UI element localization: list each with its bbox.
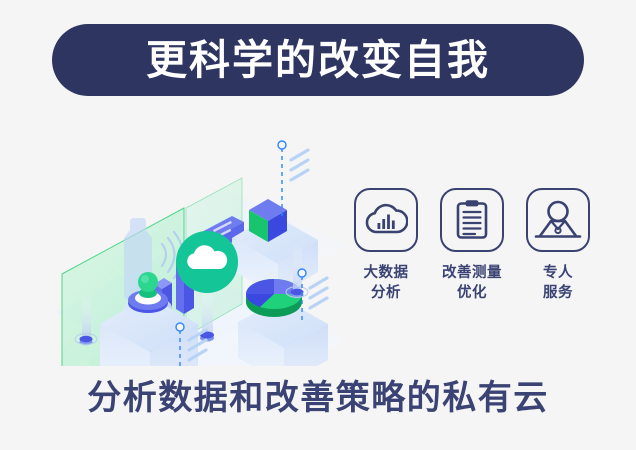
hero-illustration bbox=[46, 126, 346, 366]
feature-label-line-1: 改善测量 bbox=[442, 264, 502, 284]
hatch-marks-top bbox=[291, 150, 308, 180]
feature-label-line-2: 优化 bbox=[442, 284, 502, 304]
feature-item-dedicated-service[interactable]: 专人 服务 bbox=[520, 188, 596, 303]
feature-list: 大数据 分析 改善测量 bbox=[348, 188, 596, 328]
service-person-icon bbox=[526, 188, 590, 252]
clipboard-icon bbox=[440, 188, 504, 252]
feature-item-big-data-analysis[interactable]: 大数据 分析 bbox=[348, 188, 424, 303]
page-title: 更科学的改变自我 bbox=[146, 40, 490, 81]
feature-label-line-1: 大数据 bbox=[364, 264, 409, 284]
feature-label-dedicated-service: 专人 服务 bbox=[543, 264, 573, 303]
feature-label-line-2: 服务 bbox=[543, 284, 573, 304]
feature-label-line-2: 分析 bbox=[364, 284, 409, 304]
footer-tagline: 分析数据和改善策略的私有云 bbox=[0, 378, 636, 419]
feature-label-line-1: 专人 bbox=[543, 264, 573, 284]
cloud-bar-chart-icon bbox=[354, 188, 418, 252]
hatch-marks-right bbox=[310, 278, 327, 308]
feature-label-measurement-optimization: 改善测量 优化 bbox=[442, 264, 502, 303]
title-pill: 更科学的改变自我 bbox=[52, 24, 584, 96]
poster-root: 更科学的改变自我 bbox=[0, 0, 636, 450]
feature-label-big-data-analysis: 大数据 分析 bbox=[364, 264, 409, 303]
feature-item-measurement-optimization[interactable]: 改善测量 优化 bbox=[434, 188, 510, 303]
